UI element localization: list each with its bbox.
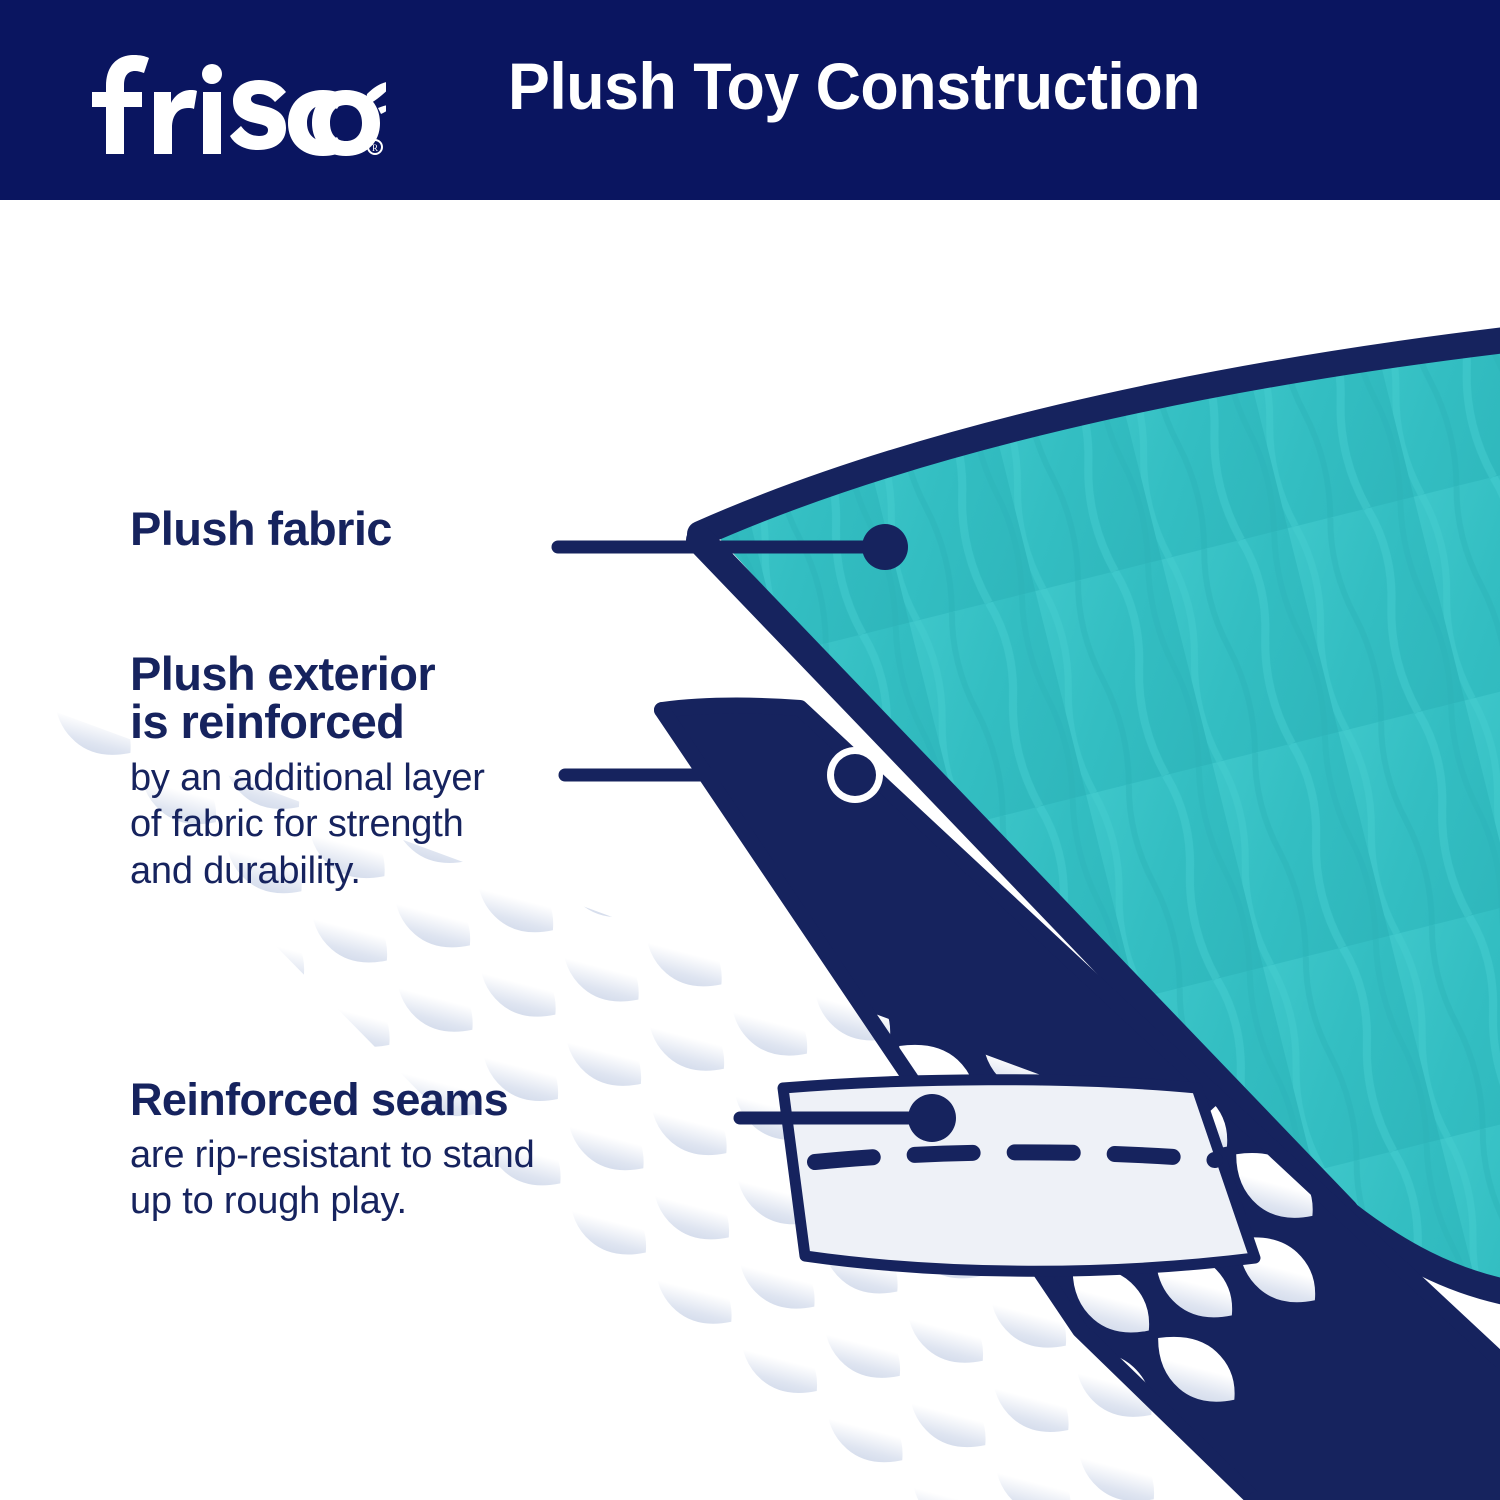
- callout-heading-plush-exterior: Plush exterior is reinforced: [130, 650, 485, 746]
- page-title: Plush Toy Construction: [508, 48, 1200, 124]
- leader-dot-plush-fabric: [862, 524, 908, 570]
- reinforced-seam-flap: [783, 1080, 1255, 1272]
- infographic-page: R Plush Toy Construction: [0, 0, 1500, 1500]
- callout-heading-reinforced-seams: Reinforced seams: [130, 1077, 535, 1123]
- callout-reinforced-seams: Reinforced seams are rip-resistant to st…: [130, 1077, 535, 1225]
- leader-dot-plush-exterior: [834, 754, 876, 796]
- frisco-logo-mark: R: [86, 46, 386, 156]
- callout-body-reinforced-seams: are rip-resistant to stand up to rough p…: [130, 1132, 535, 1225]
- seam-flap-layer: [778, 1077, 1255, 1275]
- callout-body-plush-exterior: by an additional layer of fabric for str…: [130, 755, 485, 894]
- callout-plush-fabric: Plush fabric: [130, 505, 392, 553]
- callout-heading-plush-fabric: Plush fabric: [130, 505, 392, 553]
- leader-dot-reinforced-seams: [908, 1094, 956, 1142]
- header-bar: R Plush Toy Construction: [0, 0, 1500, 200]
- svg-text:R: R: [372, 143, 378, 153]
- frisco-logo: R: [86, 46, 386, 156]
- callout-plush-exterior: Plush exterior is reinforced by an addit…: [130, 650, 485, 894]
